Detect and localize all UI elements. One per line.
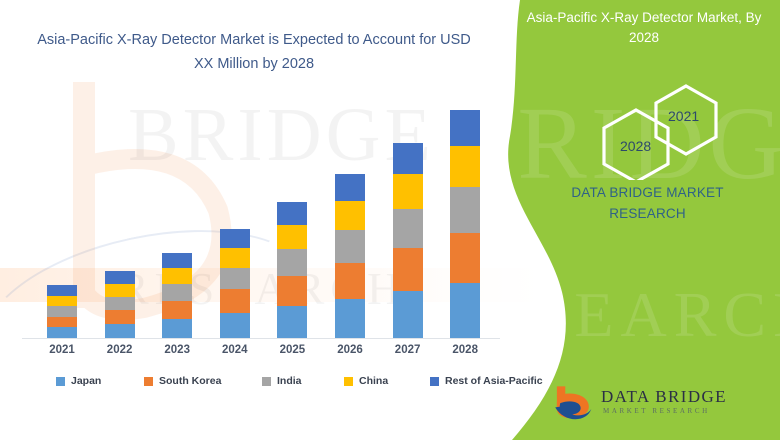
bar-segment-south-korea-2024 [220,289,250,314]
x-axis-label-2021: 2021 [32,344,92,356]
logo-secondary-text: MARKET RESEARCH [603,407,710,415]
bar-segment-china-2028 [450,146,480,187]
bar-segment-rest-of-asia-pacific-2025 [277,202,307,224]
legend-swatch-icon [344,377,353,386]
bar-segment-japan-2028 [450,283,480,338]
bar-2027 [393,143,423,338]
legend-swatch-icon [430,377,439,386]
x-axis-label-2024: 2024 [205,344,265,356]
x-axis-label-2025: 2025 [262,344,322,356]
bar-segment-rest-of-asia-pacific-2023 [162,253,192,268]
bar-segment-japan-2022 [105,324,135,338]
bar-segment-india-2025 [277,249,307,276]
legend-label: South Korea [159,375,221,387]
data-bridge-b-logo-icon [551,383,593,425]
bar-segment-japan-2027 [393,291,423,338]
legend-label: India [277,375,302,387]
bar-segment-rest-of-asia-pacific-2022 [105,271,135,284]
bar-2028 [450,110,480,338]
legend-swatch-icon [144,377,153,386]
legend-swatch-icon [56,377,65,386]
bar-segment-china-2021 [47,296,77,307]
panel-title: Asia-Pacific X-Ray Detector Market, By 2… [520,8,768,48]
bar-segment-india-2022 [105,297,135,310]
bar-2024 [220,229,250,338]
bar-segment-japan-2023 [162,319,192,338]
legend-item-south-korea[interactable]: South Korea [144,375,221,387]
x-axis-label-2023: 2023 [147,344,207,356]
infographic-root: BRIDGE RESEARCH 202120222023202420252026… [0,0,780,440]
bar-segment-china-2027 [393,174,423,209]
panel-brand-text: DATA BRIDGE MARKET RESEARCH [540,182,755,224]
bar-segment-china-2022 [105,284,135,297]
bar-segment-south-korea-2027 [393,248,423,291]
bar-2026 [335,174,365,338]
bar-segment-japan-2025 [277,306,307,338]
bar-segment-india-2027 [393,209,423,248]
bar-segment-japan-2024 [220,313,250,338]
x-axis-label-2027: 2027 [378,344,438,356]
bar-segment-india-2028 [450,187,480,233]
bar-2022 [105,271,135,338]
bar-segment-india-2021 [47,306,77,317]
legend-item-china[interactable]: China [344,375,388,387]
bar-2025 [277,202,307,338]
x-axis-label-2022: 2022 [90,344,150,356]
bar-segment-rest-of-asia-pacific-2026 [335,174,365,201]
legend-item-india[interactable]: India [262,375,302,387]
bar-segment-china-2023 [162,268,192,284]
legend-swatch-icon [262,377,271,386]
bar-2023 [162,253,192,338]
hexagon-label-2028: 2028 [620,138,651,154]
legend-item-japan[interactable]: Japan [56,375,101,387]
chart-baseline-axis [22,338,500,339]
bar-segment-india-2024 [220,268,250,289]
bar-segment-south-korea-2028 [450,233,480,283]
bar-segment-china-2024 [220,248,250,268]
bar-segment-south-korea-2022 [105,310,135,324]
chart-legend: JapanSouth KoreaIndiaChinaRest of Asia-P… [22,375,502,393]
bar-segment-south-korea-2023 [162,301,192,320]
bar-segment-japan-2026 [335,299,365,338]
svg-text:RESEARCH: RESEARCH [480,279,780,350]
bar-segment-china-2025 [277,225,307,250]
bar-segment-india-2026 [335,230,365,263]
bar-2021 [47,285,77,338]
bar-segment-china-2026 [335,201,365,230]
x-axis-label-2026: 2026 [320,344,380,356]
bar-segment-rest-of-asia-pacific-2021 [47,285,77,296]
bar-segment-rest-of-asia-pacific-2024 [220,229,250,248]
logo-primary-text: DATA BRIDGE [601,387,727,407]
hexagon-label-2021: 2021 [668,108,699,124]
legend-label: Japan [71,375,101,387]
hexagon-shapes-icon [590,84,740,180]
bar-segment-japan-2021 [47,327,77,338]
hexagon-group: 2028 2021 [590,84,740,180]
brand-logo: DATA BRIDGE MARKET RESEARCH [551,381,741,427]
chart-x-axis-labels: 20212022202320242025202620272028 [0,344,520,366]
bar-segment-india-2023 [162,284,192,300]
page-title: Asia-Pacific X-Ray Detector Market is Ex… [34,28,474,76]
bar-segment-rest-of-asia-pacific-2028 [450,110,480,146]
bar-segment-south-korea-2026 [335,263,365,299]
legend-label: China [359,375,388,387]
bar-segment-south-korea-2021 [47,317,77,328]
bar-segment-south-korea-2025 [277,276,307,306]
bar-segment-rest-of-asia-pacific-2027 [393,143,423,175]
